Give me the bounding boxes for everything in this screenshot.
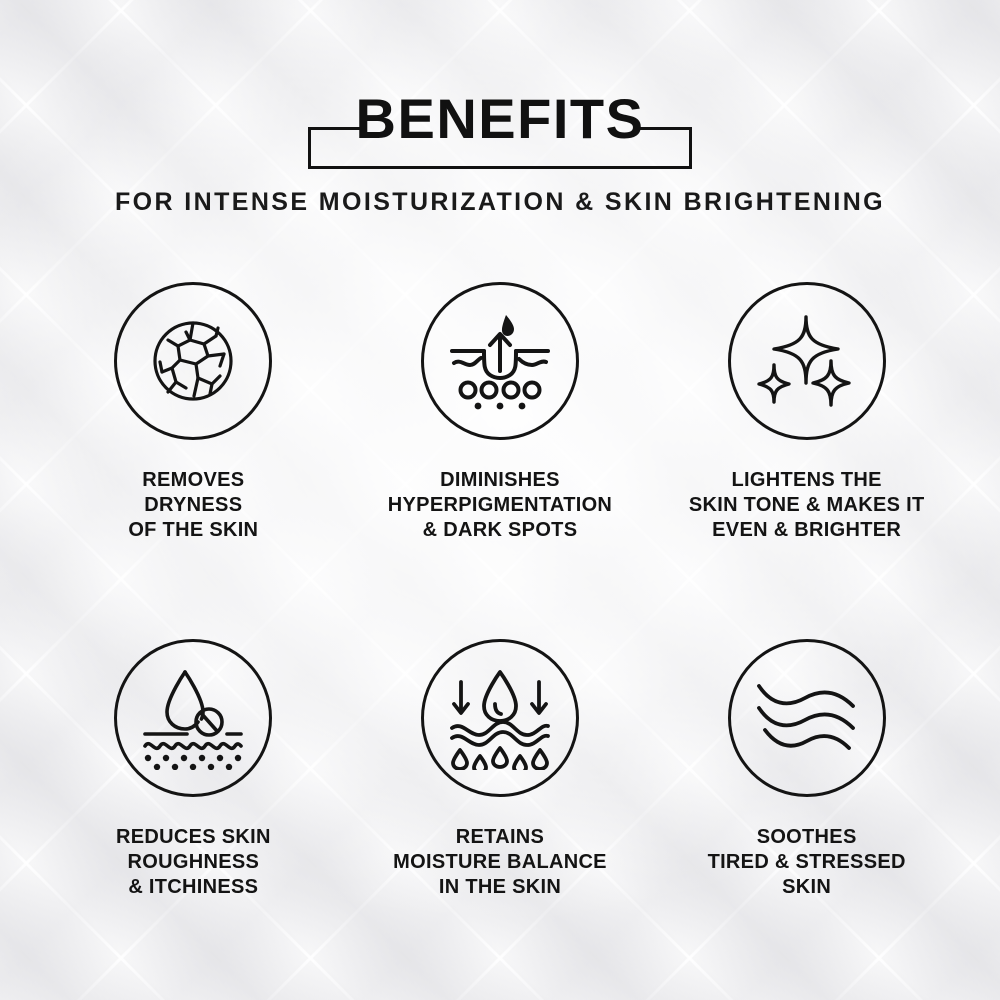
benefit-label: LIGHTENS THE SKIN TONE & MAKES IT EVEN &… bbox=[689, 468, 925, 543]
sparkles-brightening-icon bbox=[728, 282, 886, 440]
benefit-label: REMOVES DRYNESS OF THE SKIN bbox=[128, 468, 258, 543]
benefit-label: SOOTHES TIRED & STRESSED SKIN bbox=[708, 825, 906, 900]
page-title: BENEFITS bbox=[340, 88, 661, 150]
benefits-grid: REMOVES DRYNESS OF THE SKIN bbox=[40, 282, 960, 900]
benefit-item: DIMINISHES HYPERPIGMENTATION & DARK SPOT… bbox=[347, 282, 654, 543]
benefit-label: DIMINISHES HYPERPIGMENTATION & DARK SPOT… bbox=[388, 468, 612, 543]
infographic-root: BENEFITS FOR INTENSE MOISTURIZATION & SK… bbox=[0, 0, 1000, 1000]
page-subtitle: FOR INTENSE MOISTURIZATION & SKIN BRIGHT… bbox=[0, 188, 1000, 217]
benefit-label: REDUCES SKIN ROUGHNESS & ITCHINESS bbox=[116, 825, 271, 900]
moisture-absorption-icon bbox=[421, 639, 579, 797]
benefit-item: REDUCES SKIN ROUGHNESS & ITCHINESS bbox=[40, 639, 347, 900]
benefit-item: RETAINS MOISTURE BALANCE IN THE SKIN bbox=[347, 639, 654, 900]
benefit-item: REMOVES DRYNESS OF THE SKIN bbox=[40, 282, 347, 543]
benefit-item: SOOTHES TIRED & STRESSED SKIN bbox=[653, 639, 960, 900]
soothing-waves-icon bbox=[728, 639, 886, 797]
no-water-rough-skin-icon bbox=[114, 639, 272, 797]
frame-bottom-rule bbox=[308, 166, 692, 169]
benefit-item: LIGHTENS THE SKIN TONE & MAKES IT EVEN &… bbox=[653, 282, 960, 543]
benefit-label: RETAINS MOISTURE BALANCE IN THE SKIN bbox=[393, 825, 607, 900]
pore-extraction-dark-spots-icon bbox=[421, 282, 579, 440]
cracked-dry-skin-icon bbox=[114, 282, 272, 440]
title-frame: BENEFITS bbox=[308, 88, 692, 170]
title-block: BENEFITS bbox=[0, 88, 1000, 175]
